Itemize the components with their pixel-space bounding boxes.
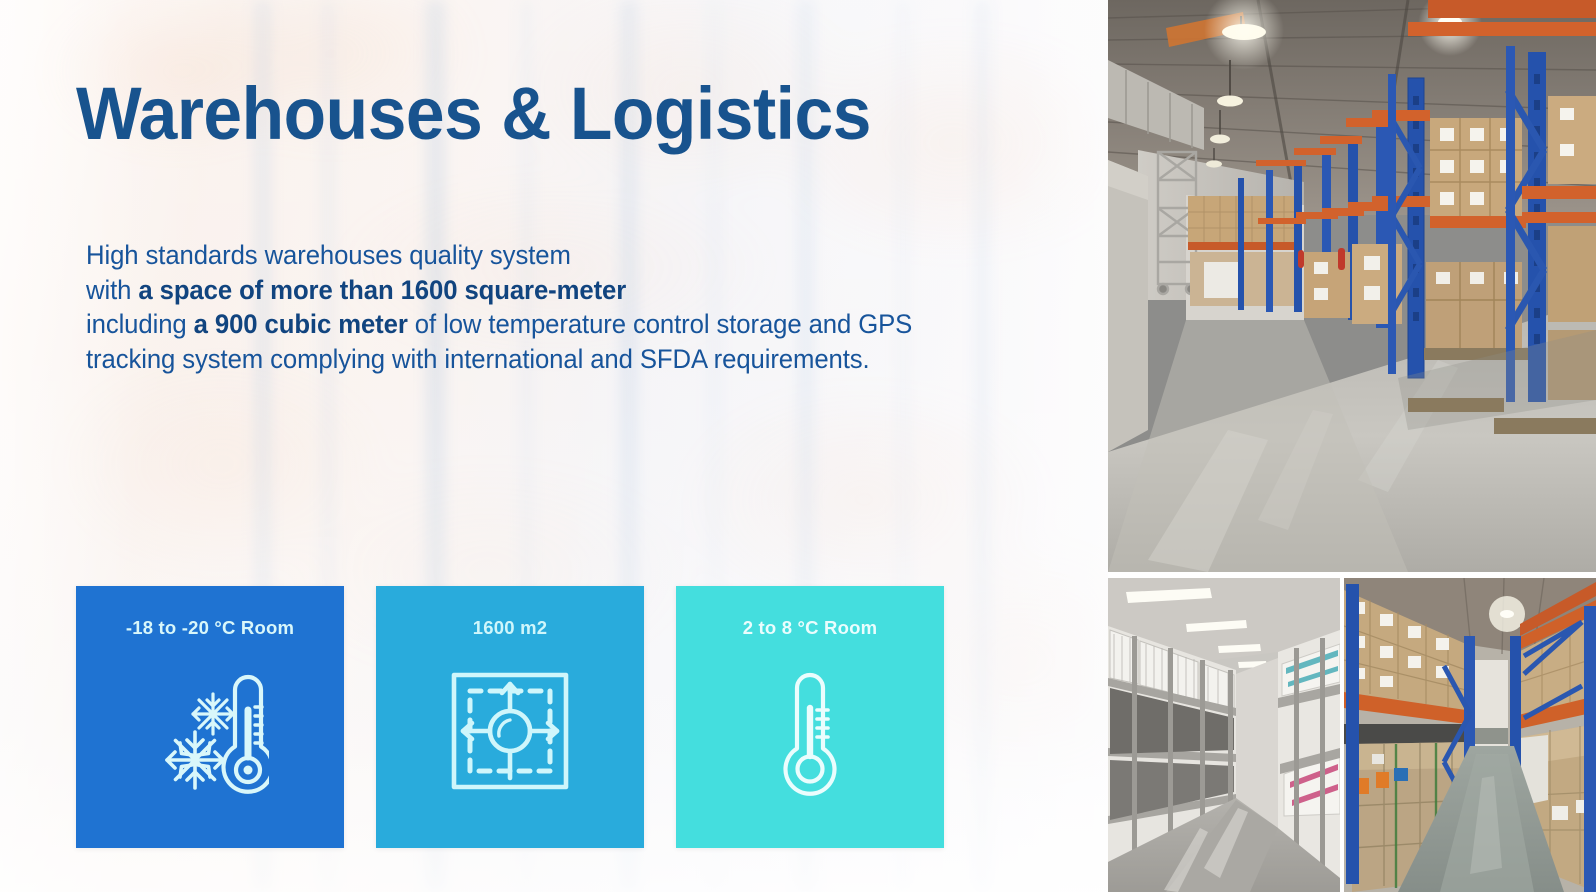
narrow-aisle-boxes-photo <box>1344 578 1596 892</box>
info-card-label: -18 to -20 °C Room <box>126 617 294 639</box>
info-card-chilled-room[interactable]: 2 to 8 °C Room <box>676 586 944 848</box>
body-line-2-prefix: with <box>86 275 138 305</box>
area-expand-icon <box>376 670 644 792</box>
body-line-4-text: tracking system complying with internati… <box>86 344 870 374</box>
thermometer-icon <box>676 670 944 798</box>
body-line-2-emphasis: a space of more than 1600 square-meter <box>138 275 626 305</box>
body-line-3: including a 900 cubic meter of low tempe… <box>86 307 1056 342</box>
page-title: Warehouses & Logistics <box>76 74 978 154</box>
info-card-label: 1600 m2 <box>473 617 547 639</box>
warehouse-aisle-pallet-racking-photo <box>1108 0 1596 572</box>
info-card-group: -18 to -20 °C Room <box>76 586 1036 848</box>
slide-warehouses-logistics: Warehouses & Logistics High standards wa… <box>0 0 1596 892</box>
body-line-2: with a space of more than 1600 square-me… <box>86 273 1056 308</box>
photo-column <box>1108 0 1596 892</box>
info-card-label: 2 to 8 °C Room <box>743 617 878 639</box>
snowflake-thermometer-icon <box>76 670 344 796</box>
body-line-3-suffix: of low temperature control storage and G… <box>408 309 912 339</box>
body-description: High standards warehouses quality system… <box>86 238 1056 376</box>
info-card-area[interactable]: 1600 m2 <box>376 586 644 848</box>
body-line-3-prefix: including <box>86 309 194 339</box>
body-line-4: tracking system complying with internati… <box>86 342 1056 377</box>
body-line-1: High standards warehouses quality system <box>86 238 1056 273</box>
cold-storage-shelving-aisle-photo <box>1108 578 1340 892</box>
left-content-panel: Warehouses & Logistics High standards wa… <box>0 0 1108 892</box>
body-line-1-text: High standards warehouses quality system <box>86 240 571 270</box>
body-line-3-emphasis: a 900 cubic meter <box>194 309 408 339</box>
info-card-freezer-room[interactable]: -18 to -20 °C Room <box>76 586 344 848</box>
